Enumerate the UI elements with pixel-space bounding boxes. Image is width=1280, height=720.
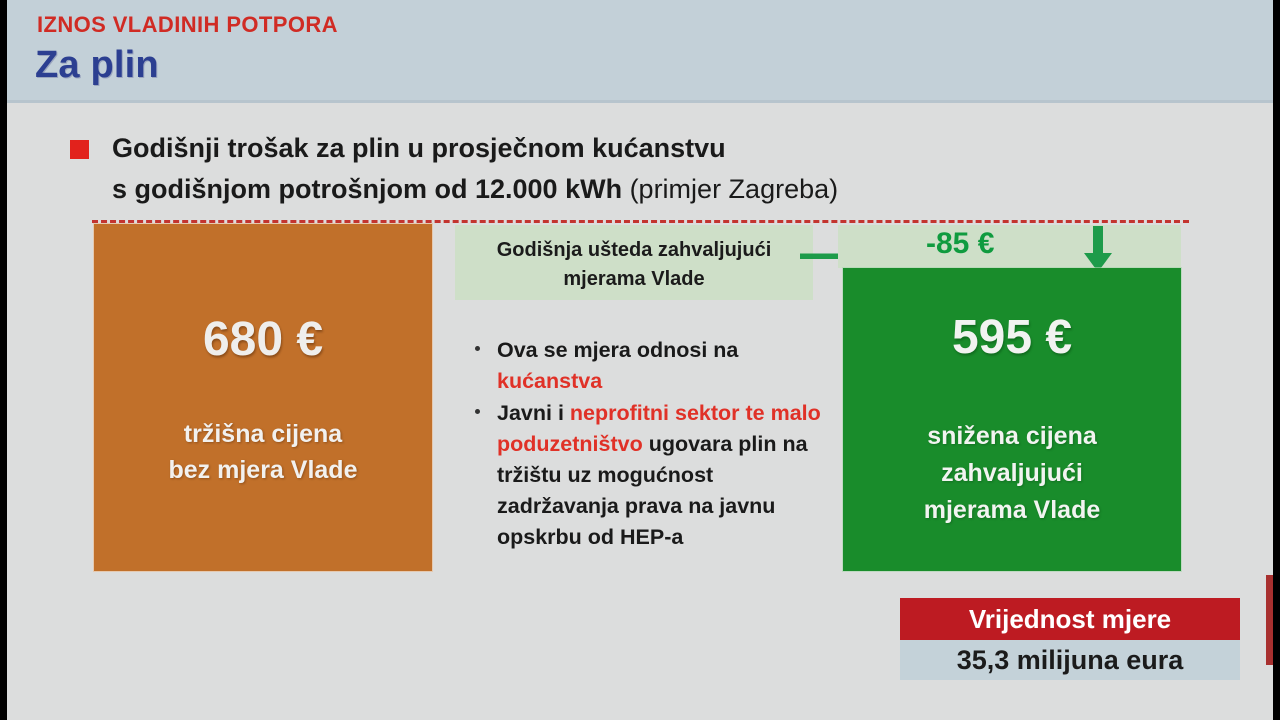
bar-reduced-price: 595 € snižena cijena zahvaljujući mjeram… (843, 268, 1181, 571)
square-bullet-icon (70, 140, 89, 159)
list-item: Javni i neprofitni sektor te malo poduze… (469, 398, 821, 553)
savings-label-line-2: mjerama Vlade (455, 265, 813, 294)
subtitle-line-2: s godišnjom potrošnjom od 12.000 kWh (pr… (112, 169, 838, 210)
delta-value: -85 € (926, 227, 994, 261)
bullet-dot-icon (475, 409, 480, 414)
bar-market-price-caption: tržišna cijena bez mjera Vlade (94, 416, 432, 488)
savings-label-line-1: Godišnja ušteda zahvaljujući (455, 236, 813, 265)
bar-reduced-price-caption-line-2: zahvaljujući (843, 455, 1181, 492)
savings-label-band: Godišnja ušteda zahvaljujući mjerama Vla… (455, 225, 813, 300)
bar-market-price-caption-line-2: bez mjera Vlade (94, 452, 432, 488)
savings-label-text: Godišnja ušteda zahvaljujući mjerama Vla… (455, 236, 813, 294)
notes-list: Ova se mjera odnosi na kućanstva Javni i… (469, 335, 821, 554)
bullet-dot-icon (475, 346, 480, 351)
list-item-text: Ova se mjera odnosi na kućanstva (497, 338, 738, 393)
subtitle-line-2-bold: s godišnjom potrošnjom od 12.000 kWh (112, 174, 630, 204)
slide-canvas: IZNOS VLADINIH POTPORA Za plin Godišnji … (0, 0, 1280, 720)
value-of-measure-title: Vrijednost mjere (900, 598, 1240, 640)
bar-reduced-price-caption-line-3: mjerama Vlade (843, 492, 1181, 529)
bar-reduced-price-value: 595 € (843, 310, 1181, 365)
header-band: IZNOS VLADINIH POTPORA Za plin (7, 0, 1273, 103)
bar-market-price-caption-line-1: tržišna cijena (94, 416, 432, 452)
subtitle-line-2-light: (primjer Zagreba) (630, 174, 839, 204)
reference-dashed-line (92, 220, 1189, 223)
header-kicker: IZNOS VLADINIH POTPORA (37, 12, 338, 38)
bar-market-price: 680 € tržišna cijena bez mjera Vlade (94, 224, 432, 571)
bar-reduced-price-caption-line-1: snižena cijena (843, 418, 1181, 455)
subtitle-lines: Godišnji trošak za plin u prosječnom kuć… (112, 128, 838, 210)
edge-marker (1266, 575, 1273, 665)
bar-reduced-price-caption: snižena cijena zahvaljujući mjerama Vlad… (843, 418, 1181, 529)
list-item: Ova se mjera odnosi na kućanstva (469, 335, 821, 397)
subtitle-line-1: Godišnji trošak za plin u prosječnom kuć… (112, 128, 838, 169)
bar-market-price-value: 680 € (94, 312, 432, 367)
page-title: Za plin (35, 44, 159, 87)
value-of-measure-callout: Vrijednost mjere 35,3 milijuna eura (900, 598, 1240, 680)
delta-band: -85 € (838, 225, 1181, 268)
arrow-down-icon (1080, 226, 1116, 272)
list-item-text: Javni i neprofitni sektor te malo poduze… (497, 401, 821, 549)
value-of-measure-amount: 35,3 milijuna eura (900, 640, 1240, 680)
